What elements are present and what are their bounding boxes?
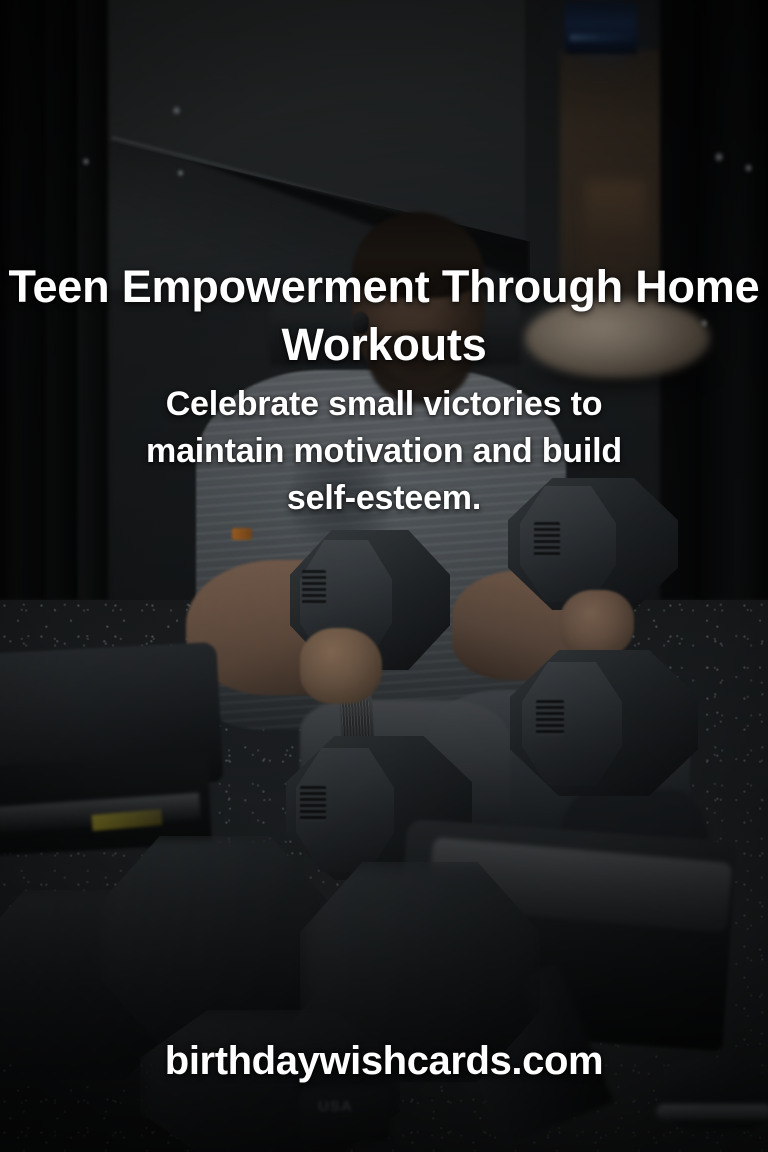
page-subtitle-line-3: self-esteem. xyxy=(64,475,704,522)
page-title-line-2: Workouts xyxy=(0,316,768,374)
page-title: Teen Empowerment Through Home Workouts xyxy=(0,258,768,374)
page-subtitle: Celebrate small victories to maintain mo… xyxy=(64,381,704,522)
text-overlay: Teen Empowerment Through Home Workouts C… xyxy=(0,0,768,1152)
page-subtitle-line-1: Celebrate small victories to xyxy=(64,381,704,428)
footer-website-url[interactable]: birthdaywishcards.com xyxy=(0,1036,768,1086)
greeting-card: USA Teen Empowerment Through Home Workou… xyxy=(0,0,768,1152)
page-title-line-1: Teen Empowerment Through Home xyxy=(0,258,768,316)
page-subtitle-line-2: maintain motivation and build xyxy=(64,428,704,475)
